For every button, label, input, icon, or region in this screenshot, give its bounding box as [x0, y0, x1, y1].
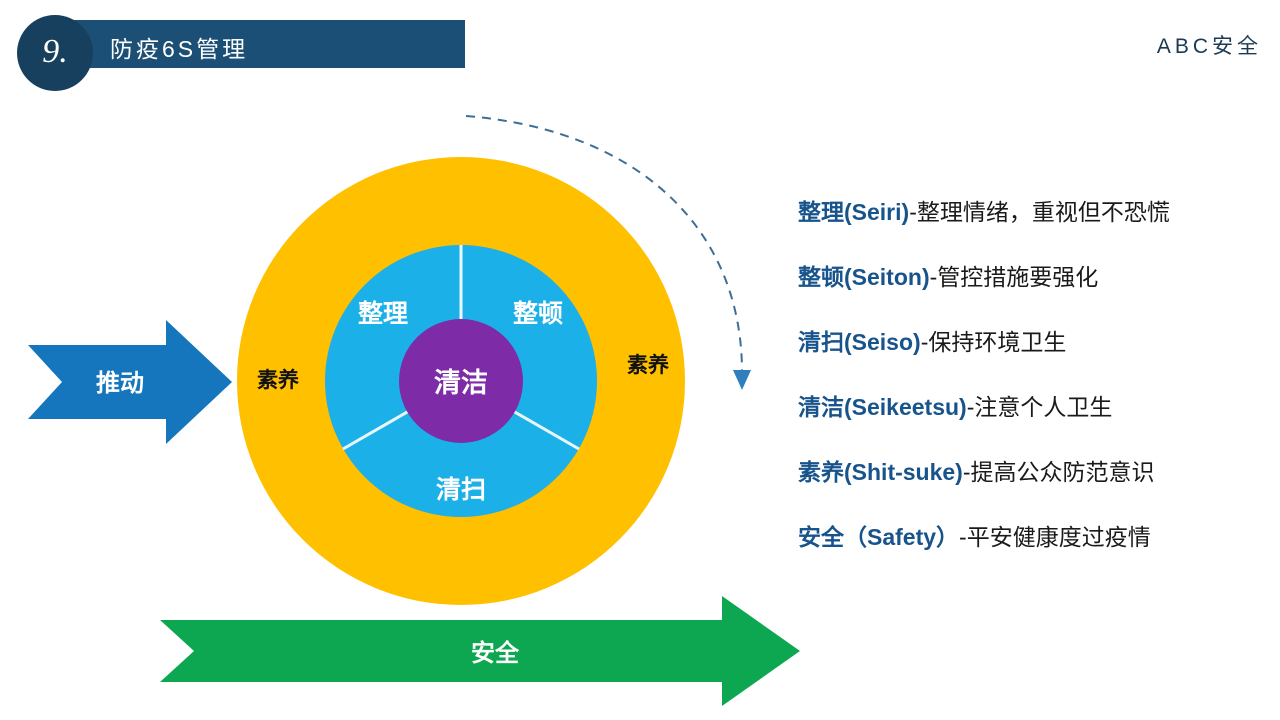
list-item: 清洁(Seikeetsu)-注意个人卫生 [798, 391, 1268, 456]
center-label-qingjie: 清洁 [434, 368, 488, 398]
point-desc: -整理情绪，重视但不恐慌 [909, 199, 1170, 225]
point-desc: -保持环境卫生 [921, 329, 1067, 355]
outer-label-left-suyang: 素养 [257, 368, 299, 392]
list-item: 整顿(Seiton)-管控措施要强化 [798, 261, 1268, 326]
list-item: 整理(Seiri)-整理情绪，重视但不恐慌 [798, 196, 1268, 261]
point-desc: -管控措施要强化 [930, 264, 1099, 290]
slide-canvas: 9. 防疫6S管理 ABC安全 推动 整理 整顿 清扫 [0, 0, 1280, 720]
page-title: 防疫6S管理 [110, 30, 248, 64]
point-term: 素养(Shit-suke) [798, 459, 963, 485]
point-term: 整理(Seiri) [798, 199, 909, 225]
list-item: 安全（Safety）-平安健康度过疫情 [798, 521, 1268, 586]
bottom-safety-arrow: 安全 [160, 596, 800, 706]
point-term: 清扫(Seiso) [798, 329, 921, 355]
point-desc: -提高公众防范意识 [963, 459, 1155, 485]
point-desc: -注意个人卫生 [967, 394, 1113, 420]
list-item: 素养(Shit-suke)-提高公众防范意识 [798, 456, 1268, 521]
sector-label-zhengli: 整理 [358, 300, 408, 328]
list-item: 清扫(Seiso)-保持环境卫生 [798, 326, 1268, 391]
section-number: 9. [17, 15, 93, 91]
six-s-points-list: 整理(Seiri)-整理情绪，重视但不恐慌 整顿(Seiton)-管控措施要强化… [798, 196, 1268, 586]
point-term: 整顿(Seiton) [798, 264, 930, 290]
point-term: 清洁(Seikeetsu) [798, 394, 967, 420]
sector-label-qingsao: 清扫 [436, 476, 486, 504]
outer-label-right-suyang: 素养 [627, 353, 669, 377]
left-push-arrow: 推动 [28, 320, 232, 444]
left-arrow-label: 推动 [96, 370, 144, 397]
point-desc: -平安健康度过疫情 [959, 524, 1151, 550]
bottom-arrow-label: 安全 [471, 639, 520, 667]
sector-label-zhengdun: 整顿 [513, 300, 563, 328]
point-term: 安全（Safety） [798, 524, 959, 550]
section-number-badge: 9. [17, 15, 93, 91]
